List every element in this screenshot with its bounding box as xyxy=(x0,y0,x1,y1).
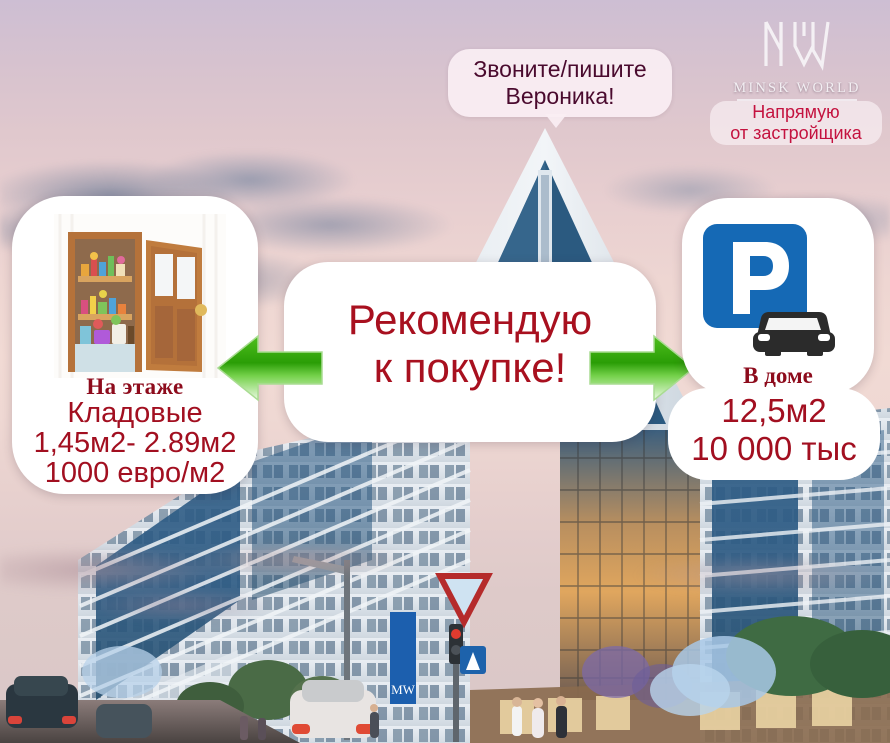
recommendation-line-2: к покупке! xyxy=(374,344,567,391)
bubble-line-2: Вероника! xyxy=(505,83,614,109)
car-icon xyxy=(753,312,835,356)
svg-text:MW: MW xyxy=(391,682,416,697)
storage-card-details: Кладовые 1,45м2- 2.89м2 1000 евро/м2 xyxy=(4,398,266,488)
parking-card-details: 12,5м2 10 000 тыс xyxy=(664,392,884,468)
parking-line-1: 12,5м2 xyxy=(664,392,884,430)
badge-line-1: Напрямую xyxy=(752,102,839,122)
bubble-line-1: Звоните/пишите xyxy=(473,56,646,82)
brand-logo: MINSK WORLD xyxy=(722,16,872,101)
bubble-tail xyxy=(545,114,567,128)
parking-card-label: В доме xyxy=(682,363,874,389)
badge-line-2: от застройщика xyxy=(730,123,862,143)
recommendation-line-1: Рекомендую xyxy=(348,296,592,343)
direct-from-developer-badge: Напрямую от застройщика xyxy=(710,101,882,145)
storage-room-icon xyxy=(54,214,226,378)
storage-line-2: 1,45м2- 2.89м2 xyxy=(4,428,266,458)
parking-line-2: 10 000 тыс xyxy=(664,430,884,468)
mw-monogram-icon xyxy=(758,16,836,74)
parking-sign-icon xyxy=(703,224,843,358)
contact-bubble: Звоните/пишите Вероника! xyxy=(448,49,672,117)
cloud-band-lower xyxy=(0,545,890,675)
poster-canvas: MW xyxy=(0,0,890,743)
storage-line-3: 1000 евро/м2 xyxy=(4,458,266,488)
brand-name: MINSK WORLD xyxy=(722,80,872,97)
arrow-left-green-icon xyxy=(214,330,326,406)
